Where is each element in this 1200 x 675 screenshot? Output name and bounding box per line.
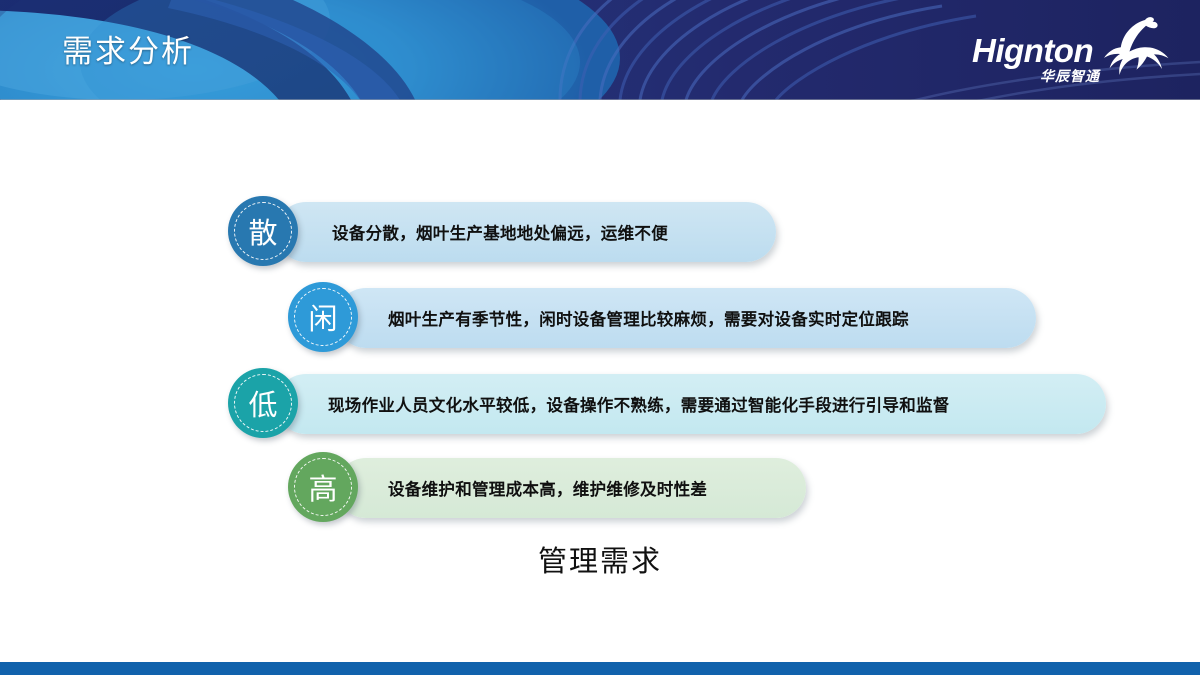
page-title: 需求分析 bbox=[62, 30, 194, 74]
requirement-badge: 低 bbox=[228, 368, 298, 438]
requirement-badge-char: 散 bbox=[228, 196, 298, 266]
requirement-badge: 高 bbox=[288, 452, 358, 522]
requirement-badge: 闲 bbox=[288, 282, 358, 352]
requirement-pill: 现场作业人员文化水平较低，设备操作不熟练，需要通过智能化手段进行引导和监督 bbox=[276, 374, 1106, 434]
requirement-badge: 散 bbox=[228, 196, 298, 266]
logo-subtitle: 华辰智通 bbox=[1040, 68, 1100, 84]
requirement-text: 设备维护和管理成本高，维护维修及时性差 bbox=[388, 476, 707, 500]
slide-header: 需求分析 Hignton 华辰智通 bbox=[0, 0, 1200, 100]
slide-canvas: 需求分析 Hignton 华辰智通 设备分散，烟叶生产基地地处偏远，运维不便 散… bbox=[0, 0, 1200, 675]
requirement-text: 现场作业人员文化水平较低，设备操作不熟练，需要通过智能化手段进行引导和监督 bbox=[328, 392, 950, 416]
logo-wordmark: Hignton bbox=[972, 34, 1093, 68]
requirement-text: 烟叶生产有季节性，闲时设备管理比较麻烦，需要对设备实时定位跟踪 bbox=[388, 306, 909, 330]
requirement-badge-char: 低 bbox=[228, 368, 298, 438]
diagram-caption: 管理需求 bbox=[0, 538, 1200, 580]
requirement-pill: 设备分散，烟叶生产基地地处偏远，运维不便 bbox=[276, 202, 776, 262]
requirement-pill: 设备维护和管理成本高，维护维修及时性差 bbox=[336, 458, 806, 518]
requirement-pill: 烟叶生产有季节性，闲时设备管理比较麻烦，需要对设备实时定位跟踪 bbox=[336, 288, 1036, 348]
slide-footer-bar bbox=[0, 662, 1200, 675]
requirement-badge-char: 闲 bbox=[288, 282, 358, 352]
brand-logo: Hignton 华辰智通 bbox=[972, 16, 1172, 92]
requirement-text: 设备分散，烟叶生产基地地处偏远，运维不便 bbox=[332, 220, 668, 244]
requirement-badge-char: 高 bbox=[288, 452, 358, 522]
